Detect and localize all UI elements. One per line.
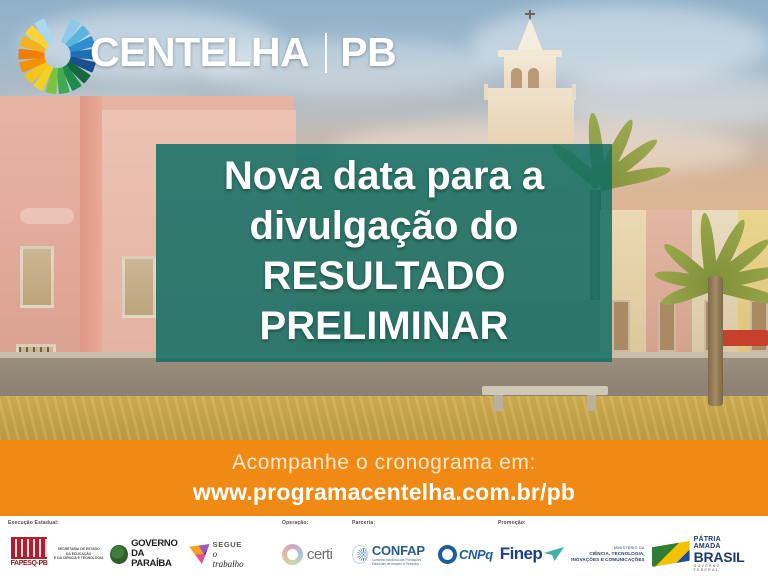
- segue-label: SEGUE o trabalho: [213, 540, 248, 569]
- ministerio-line-3: INOVAÇÕES E COMUNICAÇÕES: [571, 557, 645, 563]
- segue-line-1: SEGUE: [213, 540, 248, 549]
- cta-url[interactable]: www.programacentelha.com.br/pb: [193, 477, 575, 507]
- certi-mark-icon: [282, 544, 303, 565]
- cnpq-logo: CNPq: [438, 545, 493, 564]
- footer-logo-row: FAPESQ-PB SECRETARIA DE ESTADO DA EDUCAÇ…: [8, 534, 247, 574]
- headline-panel: Nova data para a divulgação do RESULTADO…: [156, 144, 612, 362]
- cnpq-label: CNPq: [459, 547, 493, 562]
- patria-amada-brasil-logo: PÁTRIA AMADA BRASIL GOVERNO FEDERAL: [652, 536, 747, 572]
- window: [20, 246, 54, 308]
- people-icon: [15, 539, 49, 557]
- triangle-mark-icon: [189, 544, 209, 564]
- centelha-logo: CENTELHAPB: [18, 16, 358, 90]
- governo-line-2: DA PARAÍBA: [131, 549, 182, 569]
- footer-logo-row: certi: [282, 534, 332, 574]
- brand-divider: [325, 33, 327, 73]
- street: [0, 358, 768, 398]
- footer-logo-row: CONFAP Conselho Nacional das Fundações E…: [352, 534, 433, 574]
- brand-wordmark: CENTELHAPB: [90, 22, 396, 82]
- finep-label: Finep: [500, 544, 542, 564]
- governo-label: GOVERNO DA PARAÍBA: [131, 539, 182, 569]
- palm-tree: [672, 250, 768, 400]
- ministerio-ciencia-tecnologia-logo: MINISTÉRIO DA CIÊNCIA, TECNOLOGIA, INOVA…: [571, 545, 645, 563]
- confap-mark-icon: [352, 545, 368, 564]
- certi-label: certi: [307, 546, 332, 563]
- headline-line-2: divulgação do: [250, 201, 519, 251]
- cnpq-mark-icon: [438, 545, 457, 564]
- palm-trunk: [708, 276, 723, 406]
- park-bench: [482, 386, 608, 395]
- cta-prompt: Acompanhe o cronograma em:: [232, 449, 536, 477]
- brasil-line-2: BRASIL: [694, 550, 747, 564]
- fapesq-pb-logo: FAPESQ-PB: [8, 537, 47, 571]
- footer-caption: Execução Estadual:: [8, 520, 59, 526]
- headline-line-3: RESULTADO: [263, 251, 506, 301]
- pinnacle: [484, 84, 488, 100]
- footer-logo-row: CNPq Finep MINISTÉRIO DA CIÊNCIA, TECNOL…: [438, 534, 747, 574]
- governo-da-paraiba-logo: GOVERNO DA PARAÍBA: [110, 539, 182, 569]
- pinnacle: [572, 84, 576, 100]
- segue-line-2: o trabalho: [213, 549, 248, 569]
- brasil-line-3: GOVERNO FEDERAL: [694, 564, 747, 572]
- segue-o-trabalho-logo: SEGUE o trabalho: [189, 540, 247, 569]
- seect-paraiba-logo: SECRETARIA DE ESTADO DA EDUCAÇÃO E DA CI…: [54, 547, 103, 561]
- cta-band: Acompanhe o cronograma em: www.programac…: [0, 440, 768, 516]
- promotional-poster: CENTELHAPB Nova data para a divulgação d…: [0, 0, 768, 576]
- certi-logo: certi: [282, 544, 332, 565]
- brasil-label: PÁTRIA AMADA BRASIL GOVERNO FEDERAL: [694, 536, 747, 572]
- centelha-burst-icon: [18, 16, 96, 94]
- brasil-line-1: PÁTRIA AMADA: [694, 536, 747, 550]
- brand-state: PB: [340, 29, 396, 75]
- doorway: [612, 300, 630, 352]
- footer-caption: Operação:: [282, 520, 309, 526]
- footer-logo-bar: Execução Estadual: FAPESQ-PB SECRETARIA …: [0, 516, 768, 576]
- wall-plaque: [20, 208, 74, 224]
- confap-subtitle: Conselho Nacional das Fundações Estaduai…: [372, 558, 433, 566]
- confap-label: CONFAP Conselho Nacional das Fundações E…: [372, 543, 433, 566]
- confap-logo: CONFAP Conselho Nacional das Fundações E…: [352, 543, 433, 566]
- footer-caption: Promoção:: [498, 520, 526, 526]
- spire: [516, 18, 544, 54]
- finep-logo: Finep: [500, 544, 564, 564]
- headline-line-1: Nova data para a: [224, 151, 544, 201]
- seect-line-3: E DA CIÊNCIA E TECNOLOGIA: [54, 556, 103, 561]
- fapesq-label: FAPESQ-PB: [8, 560, 50, 567]
- window: [122, 256, 156, 318]
- headline-line-4: PRELIMINAR: [260, 301, 509, 351]
- coat-of-arms-icon: [110, 545, 128, 564]
- fapesq-mark: [11, 537, 47, 559]
- brasil-flag-icon: [652, 541, 690, 567]
- paper-plane-icon: [544, 547, 564, 561]
- confap-name: CONFAP: [372, 543, 433, 558]
- footer-caption: Parceria:: [352, 520, 375, 526]
- brand-name: CENTELHA: [90, 29, 309, 75]
